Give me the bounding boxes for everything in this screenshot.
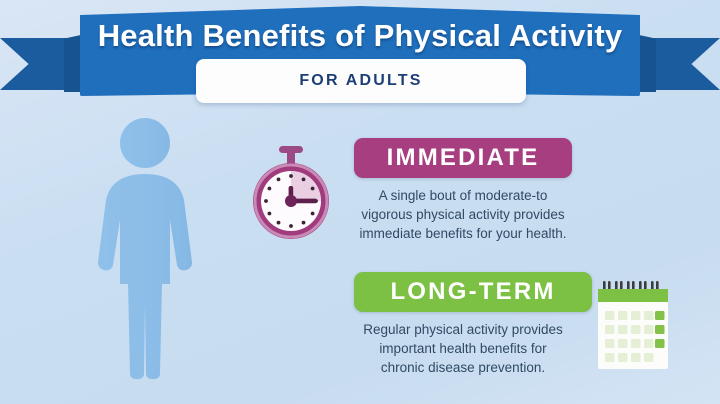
description-line: vigorous physical activity provides <box>330 206 596 225</box>
page-title: Health Benefits of Physical Activity <box>0 18 720 54</box>
description-line: Regular physical activity provides <box>330 321 596 340</box>
description-line: immediate benefits for your health. <box>330 225 596 244</box>
description-line: important health benefits for <box>330 340 596 359</box>
infographic-root: Health Benefits of Physical Activity FOR… <box>0 0 720 404</box>
section-immediate: IMMEDIATE A single bout of moderate-to v… <box>330 138 590 244</box>
badge-immediate: IMMEDIATE <box>354 138 572 178</box>
banner: Health Benefits of Physical Activity FOR… <box>0 0 720 108</box>
badge-long-term-label: LONG-TERM <box>390 278 555 306</box>
badge-long-term: LONG-TERM <box>354 272 592 312</box>
description-immediate: A single bout of moderate-to vigorous ph… <box>330 187 596 244</box>
description-long-term: Regular physical activity provides impor… <box>330 321 596 378</box>
badge-immediate-label: IMMEDIATE <box>387 144 540 172</box>
person-silhouette-icon <box>84 116 206 396</box>
description-line: chronic disease prevention. <box>330 359 596 378</box>
calendar-icon <box>596 281 670 371</box>
subtitle-label: FOR ADULTS <box>299 72 422 90</box>
section-long-term: LONG-TERM Regular physical activity prov… <box>330 272 590 378</box>
description-line: A single bout of moderate-to <box>330 187 596 206</box>
subtitle-box: FOR ADULTS <box>196 59 526 103</box>
stopwatch-icon <box>249 146 333 242</box>
